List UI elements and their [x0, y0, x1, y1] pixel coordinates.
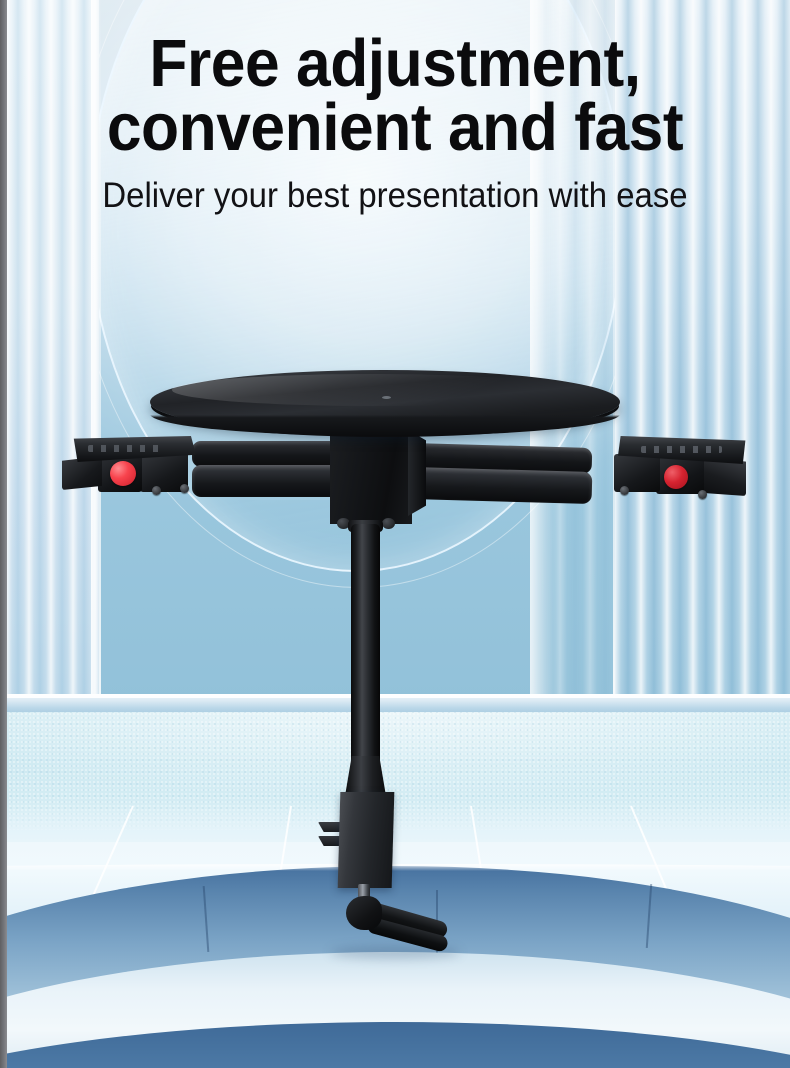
- left-mount-head: [62, 436, 202, 492]
- left-head-bolt: [180, 484, 189, 493]
- left-arm-upper-tube: [192, 441, 342, 467]
- center-pivot-block-side: [408, 430, 426, 516]
- banner-copy: Free adjustment, convenient and fast Del…: [0, 0, 790, 216]
- left-head-bolt: [152, 486, 161, 495]
- platter-gloss-reflection: [172, 374, 572, 406]
- left-red-adjustment-knob: [110, 461, 136, 486]
- desk-clamp-body: [338, 792, 395, 888]
- page-subtitle: Deliver your best presentation with ease: [24, 176, 767, 216]
- right-mount-head: [598, 436, 758, 496]
- clamp-lever-hub: [346, 896, 382, 930]
- headline-line-1: Free adjustment,: [28, 32, 763, 96]
- right-arm-lower-tube: [412, 467, 593, 504]
- platter-center-mark: [382, 396, 391, 399]
- center-pivot-block: [330, 428, 412, 524]
- right-red-adjustment-knob: [664, 465, 688, 489]
- pole-collar-knob: [382, 518, 395, 529]
- right-head-bolt: [698, 490, 707, 499]
- headline-line-2: convenient and fast: [28, 96, 763, 160]
- product-banner: Free adjustment, convenient and fast Del…: [0, 0, 790, 1068]
- left-arm-lower-tube: [192, 465, 342, 497]
- vertical-support-pole: [351, 524, 380, 774]
- page-title: Free adjustment, convenient and fast: [28, 0, 763, 160]
- right-head-bolt: [620, 486, 629, 495]
